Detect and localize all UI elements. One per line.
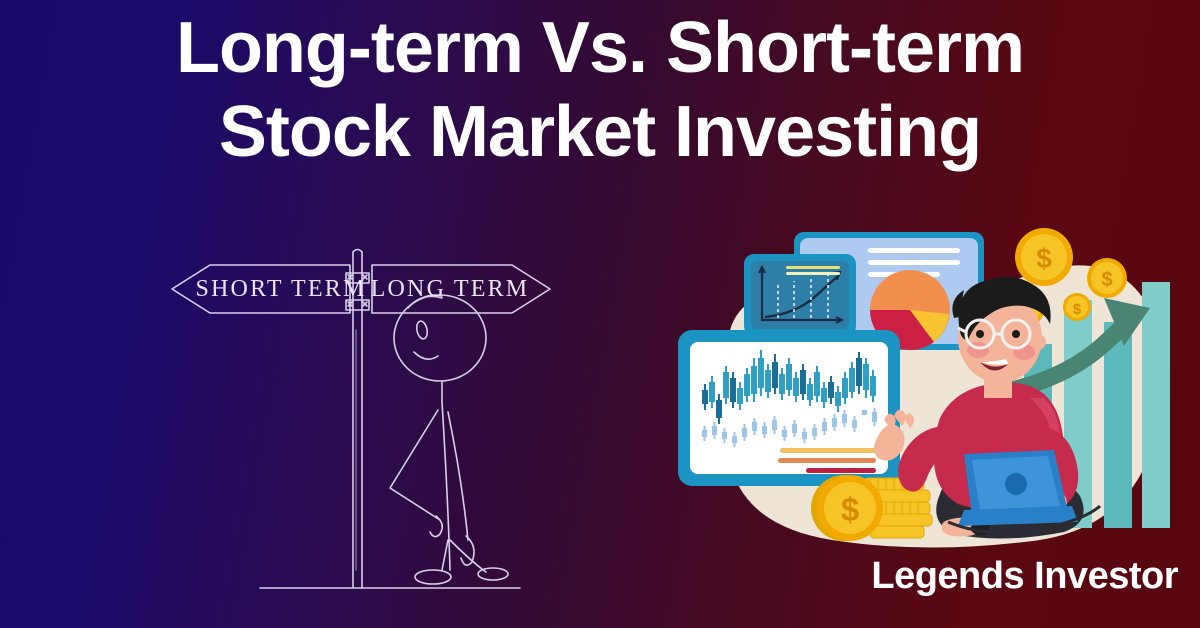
page-title: Long-term Vs. Short-term Stock Market In… (0, 6, 1200, 174)
coin-medium-right: $ (1087, 258, 1127, 298)
svg-text:$: $ (1036, 243, 1052, 274)
signpost-illustration: SHORT TERM LONG TERM (150, 240, 590, 600)
coin-large: $ (1015, 228, 1073, 286)
stick-figure (390, 295, 508, 584)
svg-text:$: $ (1073, 301, 1082, 318)
coin-small: $ (1063, 293, 1091, 321)
svg-text:$: $ (1101, 269, 1112, 291)
title-line-2: Stock Market Investing (0, 90, 1200, 174)
investing-illustration: $ $ $ $ (672, 222, 1184, 572)
long-term-sign-label: LONG TERM (371, 276, 530, 302)
poster-canvas: Long-term Vs. Short-term Stock Market In… (0, 0, 1200, 628)
brand-name: Legends Investor (0, 555, 1178, 598)
candlestick-screen (678, 330, 900, 486)
short-term-sign-label: SHORT TERM (195, 276, 366, 302)
title-line-1: Long-term Vs. Short-term (0, 6, 1200, 90)
svg-text:$: $ (841, 491, 859, 528)
